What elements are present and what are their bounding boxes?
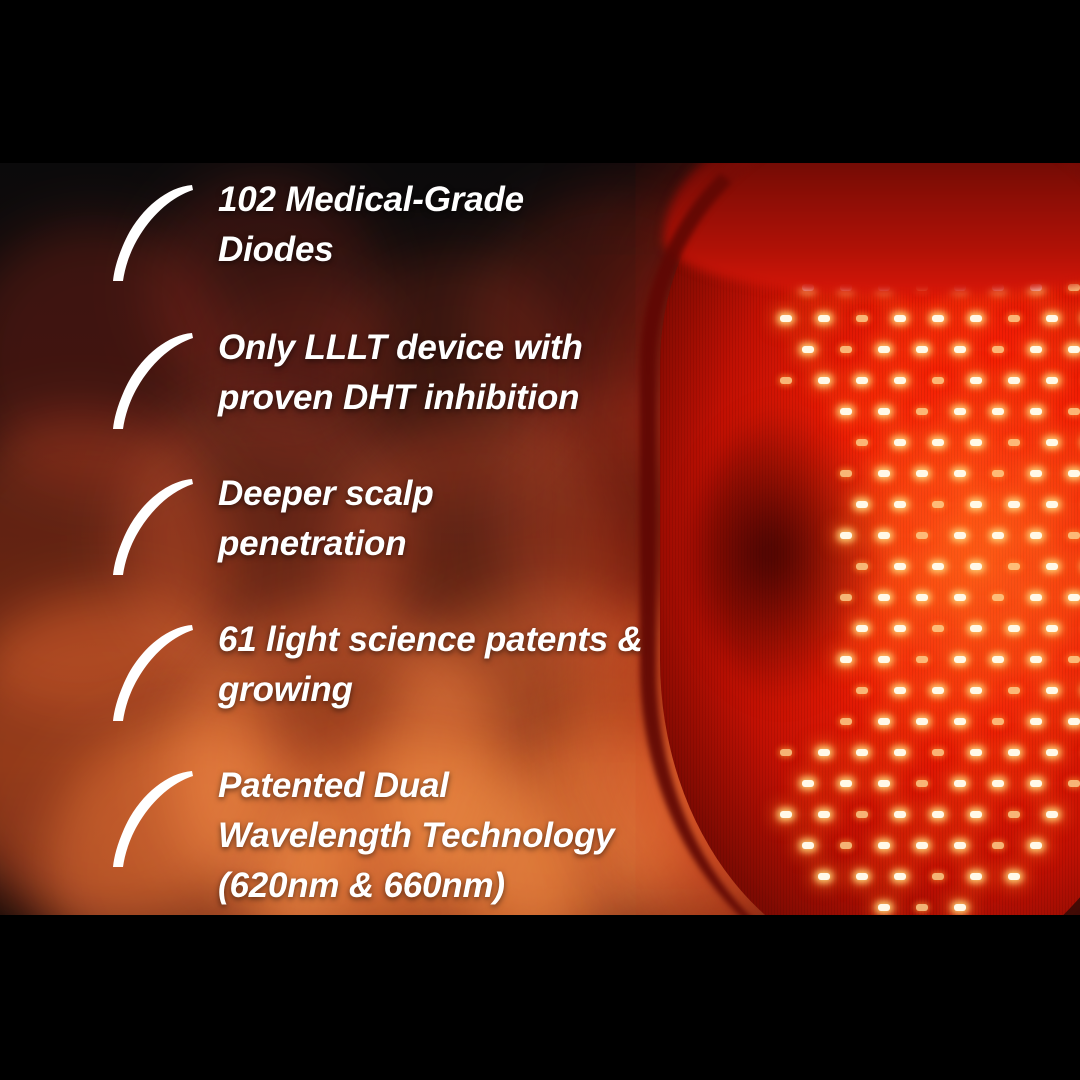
led-diode xyxy=(1068,284,1080,291)
led-diode xyxy=(916,346,928,353)
led-diode xyxy=(916,718,928,725)
led-diode xyxy=(1046,625,1058,632)
led-diode xyxy=(992,532,1004,539)
led-diode xyxy=(954,532,966,539)
led-diode xyxy=(1068,408,1080,415)
led-diode xyxy=(1068,470,1080,477)
led-diode xyxy=(840,656,852,663)
led-diode xyxy=(878,718,890,725)
led-diode xyxy=(954,346,966,353)
led-diode xyxy=(840,594,852,601)
led-diode xyxy=(1030,842,1042,849)
led-diode xyxy=(1046,811,1058,818)
led-diode xyxy=(1068,594,1080,601)
led-diode xyxy=(894,873,906,880)
feature-label: 61 light science patents & growing xyxy=(218,615,643,715)
led-diode xyxy=(1068,656,1080,663)
feature-item-scalp-penetration: Deeper scalp penetration xyxy=(0,469,434,579)
led-diode xyxy=(916,780,928,787)
led-diode xyxy=(932,687,944,694)
led-diode xyxy=(954,904,966,911)
led-diode xyxy=(1008,749,1020,756)
led-diode xyxy=(1046,687,1058,694)
led-diode xyxy=(894,315,906,322)
led-diode xyxy=(894,439,906,446)
led-diode xyxy=(1008,377,1020,384)
led-diode xyxy=(916,594,928,601)
feature-label: Only LLLT device with proven DHT inhibit… xyxy=(218,323,583,423)
led-diode xyxy=(878,780,890,787)
led-diode xyxy=(970,873,982,880)
led-diode xyxy=(992,346,1004,353)
led-diode xyxy=(970,315,982,322)
led-diode xyxy=(780,377,792,384)
led-diode xyxy=(1008,625,1020,632)
led-diode xyxy=(992,842,1004,849)
led-diode xyxy=(954,408,966,415)
led-diode xyxy=(856,625,868,632)
led-diode xyxy=(856,873,868,880)
feature-item-light-science-patents: 61 light science patents & growing xyxy=(0,615,643,725)
led-diode xyxy=(1068,532,1080,539)
led-diode xyxy=(840,408,852,415)
letterbox-bar-top xyxy=(0,0,1080,163)
led-diode xyxy=(970,687,982,694)
feature-item-dual-wavelength: Patented Dual Wavelength Technology (620… xyxy=(0,761,614,911)
led-diode xyxy=(894,749,906,756)
led-diode xyxy=(1046,377,1058,384)
led-diode xyxy=(932,439,944,446)
led-diode xyxy=(818,377,830,384)
led-diode xyxy=(856,501,868,508)
led-diode xyxy=(970,749,982,756)
led-diode xyxy=(818,811,830,818)
led-diode xyxy=(878,904,890,911)
led-diode xyxy=(856,687,868,694)
led-diode xyxy=(916,408,928,415)
feature-label: 102 Medical-Grade Diodes xyxy=(218,175,524,275)
swoosh-curve-marker xyxy=(104,767,196,871)
led-diode xyxy=(856,749,868,756)
led-diode xyxy=(840,718,852,725)
device-shell-lip xyxy=(664,163,1080,295)
led-diode xyxy=(932,377,944,384)
led-diode xyxy=(840,780,852,787)
feature-label: Patented Dual Wavelength Technology (620… xyxy=(218,761,614,911)
led-diode xyxy=(932,873,944,880)
led-diode xyxy=(1030,470,1042,477)
led-diode xyxy=(856,811,868,818)
led-diode xyxy=(916,532,928,539)
led-diode xyxy=(992,718,1004,725)
led-diode xyxy=(1008,873,1020,880)
led-diode xyxy=(916,842,928,849)
led-diode xyxy=(1068,718,1080,725)
led-diode xyxy=(992,656,1004,663)
led-diode xyxy=(954,842,966,849)
led-diode xyxy=(954,656,966,663)
led-diode xyxy=(894,811,906,818)
led-diode xyxy=(1030,718,1042,725)
led-diode xyxy=(856,439,868,446)
led-diode xyxy=(1008,501,1020,508)
led-diode xyxy=(878,594,890,601)
laser-cap-device xyxy=(640,163,1080,915)
led-diode xyxy=(970,625,982,632)
led-diode xyxy=(1046,501,1058,508)
led-diode xyxy=(970,501,982,508)
led-diode xyxy=(970,439,982,446)
led-diode xyxy=(932,315,944,322)
led-diode xyxy=(1030,346,1042,353)
swoosh-curve-marker xyxy=(104,329,196,433)
swoosh-curve-marker xyxy=(104,181,196,285)
led-diode xyxy=(954,780,966,787)
led-diode xyxy=(840,470,852,477)
led-diode xyxy=(1030,656,1042,663)
led-diode xyxy=(878,346,890,353)
led-diode xyxy=(1030,780,1042,787)
led-diode xyxy=(894,687,906,694)
led-diode xyxy=(970,377,982,384)
led-diode xyxy=(856,315,868,322)
swoosh-curve-marker xyxy=(104,475,196,579)
led-diode xyxy=(992,780,1004,787)
feature-label: Deeper scalp penetration xyxy=(218,469,434,569)
led-diode xyxy=(818,749,830,756)
led-diode xyxy=(856,377,868,384)
led-diode xyxy=(1030,594,1042,601)
led-diode xyxy=(878,532,890,539)
led-diode xyxy=(840,346,852,353)
led-diode xyxy=(818,873,830,880)
led-diode xyxy=(970,563,982,570)
led-diode xyxy=(1008,315,1020,322)
led-diode xyxy=(954,470,966,477)
led-diode xyxy=(1068,346,1080,353)
led-diode xyxy=(916,470,928,477)
led-diode xyxy=(878,408,890,415)
led-diode xyxy=(916,656,928,663)
feature-item-medical-grade-diodes: 102 Medical-Grade Diodes xyxy=(0,175,524,285)
led-diode xyxy=(840,842,852,849)
led-diode xyxy=(802,346,814,353)
led-diode xyxy=(1030,532,1042,539)
led-diode xyxy=(954,718,966,725)
led-diode xyxy=(802,780,814,787)
led-diode xyxy=(932,501,944,508)
ad-creative-canvas: 102 Medical-Grade DiodesOnly LLLT device… xyxy=(0,0,1080,1080)
led-diode xyxy=(1008,563,1020,570)
swoosh-curve-marker xyxy=(104,621,196,725)
led-diode xyxy=(1008,687,1020,694)
led-diode xyxy=(894,625,906,632)
led-diode xyxy=(1046,439,1058,446)
led-diode xyxy=(992,408,1004,415)
led-diode xyxy=(840,532,852,539)
led-diode xyxy=(932,625,944,632)
letterbox-bar-bottom xyxy=(0,915,1080,1080)
led-diode xyxy=(954,594,966,601)
led-diode xyxy=(1008,811,1020,818)
led-diode xyxy=(932,811,944,818)
led-diode xyxy=(878,470,890,477)
led-diode xyxy=(1046,563,1058,570)
led-diode xyxy=(1068,780,1080,787)
led-diode xyxy=(780,811,792,818)
led-diode xyxy=(780,315,792,322)
led-diode xyxy=(856,563,868,570)
feature-list: 102 Medical-Grade DiodesOnly LLLT device… xyxy=(0,163,700,915)
led-diode xyxy=(878,842,890,849)
led-diode xyxy=(802,842,814,849)
led-diode xyxy=(970,811,982,818)
feature-item-dht-inhibition: Only LLLT device with proven DHT inhibit… xyxy=(0,323,583,433)
led-diode xyxy=(916,904,928,911)
led-diode xyxy=(992,594,1004,601)
led-diode xyxy=(818,315,830,322)
led-diode xyxy=(780,749,792,756)
led-diode xyxy=(1030,408,1042,415)
led-diode xyxy=(932,749,944,756)
led-diode xyxy=(1046,315,1058,322)
led-diode xyxy=(894,563,906,570)
led-diode xyxy=(894,501,906,508)
led-diode xyxy=(1046,749,1058,756)
led-diode xyxy=(1008,439,1020,446)
led-diode xyxy=(992,470,1004,477)
led-diode xyxy=(932,563,944,570)
led-diode xyxy=(878,656,890,663)
led-diode xyxy=(894,377,906,384)
